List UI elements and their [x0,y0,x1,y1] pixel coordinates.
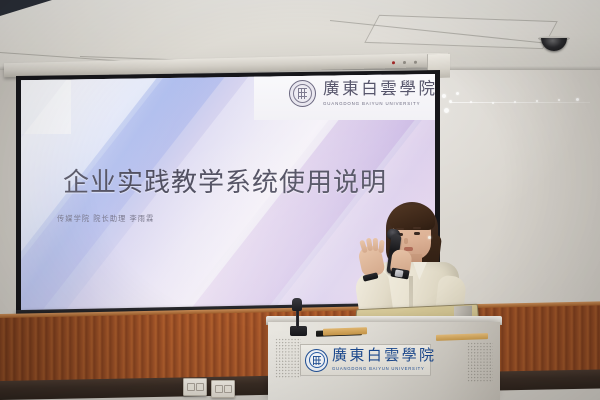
projection-screen-control-panel[interactable] [390,59,424,68]
finger [373,238,378,251]
earring-icon [428,236,431,239]
eye-right [414,232,420,235]
podium-university-plate: 廣東白雲學院 GUANGDONG BAIYUN UNIVERSITY [300,344,431,376]
slide-subtitle: 传媒学院 院长助理 李雨霖 [57,214,154,224]
podium-plate-name-cn: 廣東白雲學院 [332,349,436,364]
wristwatch-face [394,269,403,277]
lecture-hall-photo: 廣東白雲學院 GUANGDONG BAIYUN UNIVERSITY 企业实践教… [0,0,600,400]
slide-university-logo: 廣東白雲學院 GUANGDONG BAIYUN UNIVERSITY [289,80,435,107]
speaker-grille-left [275,338,301,378]
wall-outlet-right[interactable] [211,380,235,398]
wall-outlet-left[interactable] [183,378,207,396]
university-seal-icon [289,80,316,107]
slide-logo-name-cn: 廣東白雲學院 [323,81,435,98]
slide-logo-name-en: GUANGDONG BAIYUN UNIVERSITY [323,101,435,106]
slide-title: 企业实践教学系统使用说明 [63,162,387,199]
ceiling-panel [364,15,558,49]
nose [404,238,408,244]
ceiling-dark-corner [0,0,52,16]
eyebrow-right [413,227,421,229]
gooseneck-microphone-icon[interactable] [292,298,302,311]
podium-plate-name-en: GUANGDONG BAIYUN UNIVERSITY [332,366,436,371]
finger [378,240,384,253]
university-seal-icon [305,349,328,372]
hair-front [389,205,435,230]
wall-marks [440,88,590,118]
speaker-grille-right [467,342,493,382]
